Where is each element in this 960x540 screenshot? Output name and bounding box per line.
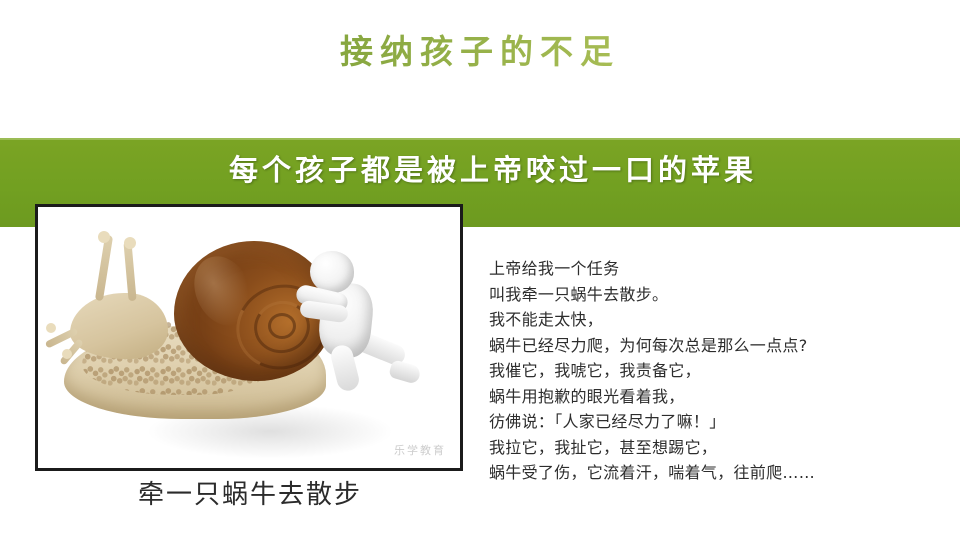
poem-line: 蜗牛受了伤，它流着汗，喘着气，往前爬…… [489, 460, 939, 486]
banner-top-highlight [0, 138, 960, 140]
photo-watermark: 乐学教育 [394, 442, 446, 458]
poem-line: 我催它，我唬它，我责备它， [489, 358, 939, 384]
banner-heading: 每个孩子都是被上帝咬过一口的苹果 [0, 150, 960, 190]
snail-head [70, 293, 168, 359]
poem-line: 蜗牛已经尽力爬，为何每次总是那么一点点? [489, 333, 939, 359]
snail-photo: 乐学教育 [38, 207, 460, 468]
snail-tentacle-upper-left [95, 235, 113, 301]
poem-line: 叫我牵一只蜗牛去散步。 [489, 282, 939, 308]
poem-line: 蜗牛用抱歉的眼光看着我， [489, 384, 939, 410]
poem-line: 我拉它，我扯它，甚至想踢它， [489, 435, 939, 461]
poem-line: 我不能走太快， [489, 307, 939, 333]
snail-tentacle-knob-2 [124, 237, 136, 249]
snail-tentacle-knob-1 [98, 231, 110, 243]
poem-line: 彷佛说：「人家已经尽力了嘛！」 [489, 409, 939, 435]
snail-tentacle-knob-3 [46, 323, 56, 333]
picture-caption: 牵一只蜗牛去散步 [35, 478, 465, 512]
page-title: 接纳孩子的不足 [0, 30, 960, 74]
slide-canvas: 接纳孩子的不足 每个孩子都是被上帝咬过一口的苹果 [0, 0, 960, 540]
picture-frame: 乐学教育 [35, 204, 463, 471]
poem-line: 上帝给我一个任务 [489, 256, 939, 282]
shell-swirl-inner [268, 313, 296, 339]
snail-tentacle-knob-4 [62, 349, 72, 359]
poem-block: 上帝给我一个任务 叫我牵一只蜗牛去散步。 我不能走太快， 蜗牛已经尽力爬，为何每… [489, 256, 939, 486]
figure-foot [388, 359, 422, 385]
